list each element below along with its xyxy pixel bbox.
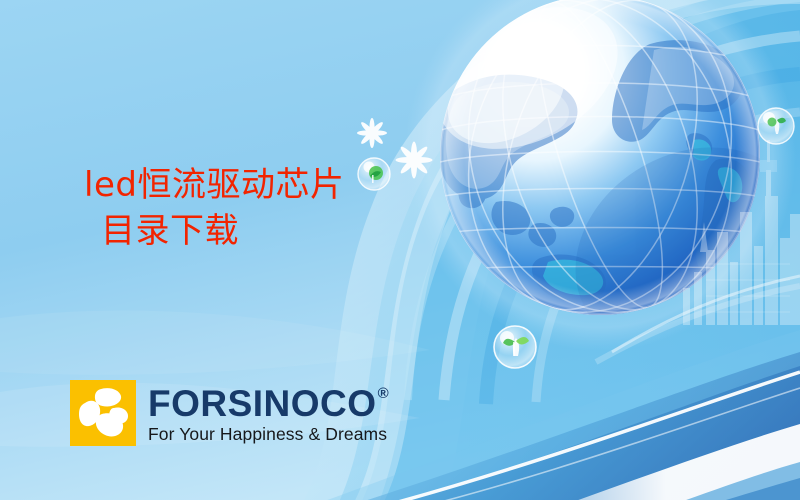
logo-tagline: For Your Happiness & Dreams [148,424,389,445]
logo-name: FORSINOCO [148,385,377,422]
four-petal-flower-icon [70,380,136,446]
headline-line-2: 目录下载 [84,208,444,254]
logo-text-block: FORSINOCO ® For Your Happiness & Dreams [148,380,389,445]
headline-line-1: led恒流驱动芯片 [84,162,444,208]
registered-trademark-icon: ® [378,386,390,401]
promo-banner: led恒流驱动芯片 目录下载 FORSINOCO ® For Your Happ… [0,0,800,500]
headline-block: led恒流驱动芯片 目录下载 [84,162,444,254]
logo-wordmark: FORSINOCO ® [148,385,389,422]
company-logo: FORSINOCO ® For Your Happiness & Dreams [70,380,389,446]
